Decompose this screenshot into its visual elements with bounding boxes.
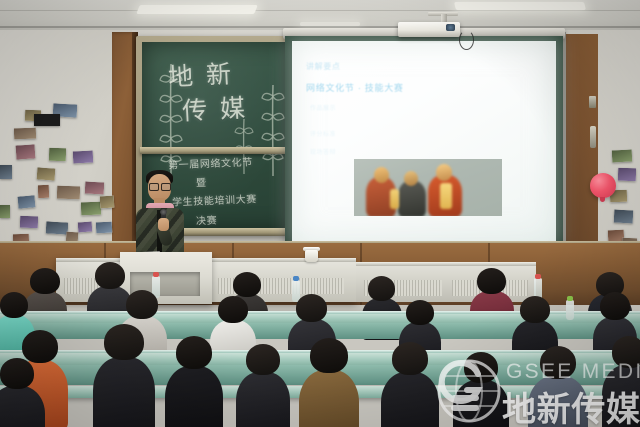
wall-photo-image xyxy=(20,216,38,229)
wall-photo-image xyxy=(46,221,69,234)
wall-photo-image xyxy=(618,168,636,182)
audience-member-body xyxy=(528,376,588,427)
balloon xyxy=(590,173,616,198)
blackboard-ledge xyxy=(140,147,300,154)
wall-photo xyxy=(73,150,94,163)
audience-member-head xyxy=(368,276,395,301)
presenter-hand xyxy=(158,218,169,231)
wall-photo-image xyxy=(612,149,633,162)
wall-photo xyxy=(57,186,80,200)
audience-member-head xyxy=(218,296,248,323)
audience-member-head xyxy=(310,338,348,373)
wall-photo xyxy=(37,167,56,180)
audience-member-head xyxy=(104,324,144,360)
wall-photo xyxy=(46,221,69,234)
blackboard-subtitle-line4: 决赛 xyxy=(196,212,218,228)
slide-text-line5: 现场答辩 xyxy=(310,147,336,156)
slide-text-line1: 讲解要点 xyxy=(306,61,341,72)
audience-member-body xyxy=(165,366,223,427)
audience-member-head xyxy=(406,300,434,325)
wall-photo-image xyxy=(73,150,94,163)
blackboard-headline-line2: 传 媒 xyxy=(181,88,248,127)
wall-photo-image xyxy=(38,185,49,198)
wall-photo xyxy=(0,205,10,218)
wall-photo xyxy=(100,196,115,209)
audience-member-head xyxy=(246,344,280,375)
slide-text-line3: 作品展示 xyxy=(310,103,336,112)
fluorescent-light xyxy=(136,5,258,14)
right-door-lock xyxy=(589,96,596,108)
fluorescent-light xyxy=(300,22,360,26)
audience-member-head xyxy=(477,268,506,294)
slide-text-line4: 评分标准 xyxy=(310,129,336,138)
audience-member-head xyxy=(612,336,640,368)
audience-member-body xyxy=(93,357,155,427)
wall-photo xyxy=(16,144,36,159)
wall-photo-image xyxy=(0,165,12,179)
ceiling-seam-secondary xyxy=(0,10,640,11)
audience-member-body xyxy=(453,380,509,427)
wall-photo-dark xyxy=(34,114,60,126)
audience-member-head xyxy=(176,336,212,369)
projector-cable xyxy=(459,30,474,50)
blackboard-headline-line1: 地 新 xyxy=(167,54,234,93)
wall-photo xyxy=(81,202,101,216)
wall-photo-image xyxy=(0,205,10,218)
audience-member-body xyxy=(299,370,359,427)
projection-screen: 讲解要点 网络文化节 · 技能大赛 作品展示 评分标准 现场答辩 xyxy=(292,41,556,243)
wall-photo xyxy=(20,216,38,229)
audience-member-head xyxy=(95,262,125,289)
audience-member-head xyxy=(22,330,58,363)
classroom-photo: 地 新 传 媒 第一届网络文化节 暨 学生技能培训大赛 决赛 讲解要点 网络文化… xyxy=(0,0,640,427)
wall-photo-image xyxy=(37,167,56,180)
blackboard-subtitle-line2: 暨 xyxy=(196,174,207,189)
wall-photo xyxy=(38,185,49,198)
slide-text-line2: 网络文化节 · 技能大赛 xyxy=(306,81,404,94)
audience-member-head xyxy=(30,268,60,294)
presenter xyxy=(128,168,190,264)
audience-member-body xyxy=(236,372,290,427)
wall-photo xyxy=(14,128,36,140)
wall-photo-image xyxy=(57,186,80,200)
audience-member-head xyxy=(0,292,28,318)
bottle-cap xyxy=(567,296,573,301)
audience-member-head xyxy=(540,346,576,379)
wall-photo-image xyxy=(49,148,66,162)
wall-photo-image xyxy=(14,128,36,140)
audience-member-head xyxy=(233,272,261,297)
balloon-knot xyxy=(600,197,605,202)
wall-photo-image xyxy=(78,222,93,233)
right-door xyxy=(564,34,598,264)
wall-photo xyxy=(78,222,93,233)
wall-photo-image xyxy=(100,196,115,209)
chalk-vine-icon xyxy=(260,82,286,178)
slide-video-thumbnail xyxy=(354,159,502,216)
microphone-head xyxy=(160,209,167,215)
wall-photo xyxy=(0,165,12,179)
bottle-cap xyxy=(535,274,541,279)
wall-photo-image xyxy=(16,144,36,159)
wall-photo-image xyxy=(85,182,105,195)
audience-member-body xyxy=(602,365,640,427)
presenter-glasses-right xyxy=(161,183,171,191)
bottle-cap xyxy=(153,272,159,277)
water-bottle xyxy=(566,300,574,320)
wall-photo-image xyxy=(18,195,36,208)
audience-member-head xyxy=(520,296,550,323)
wall-photo xyxy=(85,182,105,195)
projector-lens xyxy=(446,24,455,31)
wall-photo-image xyxy=(96,222,113,234)
fluorescent-light xyxy=(454,2,586,10)
wall-photo-image xyxy=(81,202,101,216)
wall-photo xyxy=(49,148,66,162)
right-door-handle xyxy=(590,126,596,148)
cup xyxy=(305,250,318,262)
counter-lip xyxy=(356,262,536,266)
audience-member-body xyxy=(381,372,439,427)
audience-member-head xyxy=(600,292,630,320)
presenter-glasses-left xyxy=(149,183,159,191)
audience-member-head xyxy=(0,358,34,389)
audience-member-head xyxy=(392,342,428,375)
audience-member-head xyxy=(464,352,498,383)
audience-member-head xyxy=(126,290,158,319)
wall-photo xyxy=(612,149,633,162)
wall-photo xyxy=(18,195,36,208)
wall-photo-image xyxy=(614,210,634,224)
wall-photo xyxy=(96,222,113,234)
wall-photo xyxy=(614,210,634,224)
audience-member-head xyxy=(296,294,327,322)
bottle-cap xyxy=(293,276,299,281)
wall-photo xyxy=(618,168,636,182)
